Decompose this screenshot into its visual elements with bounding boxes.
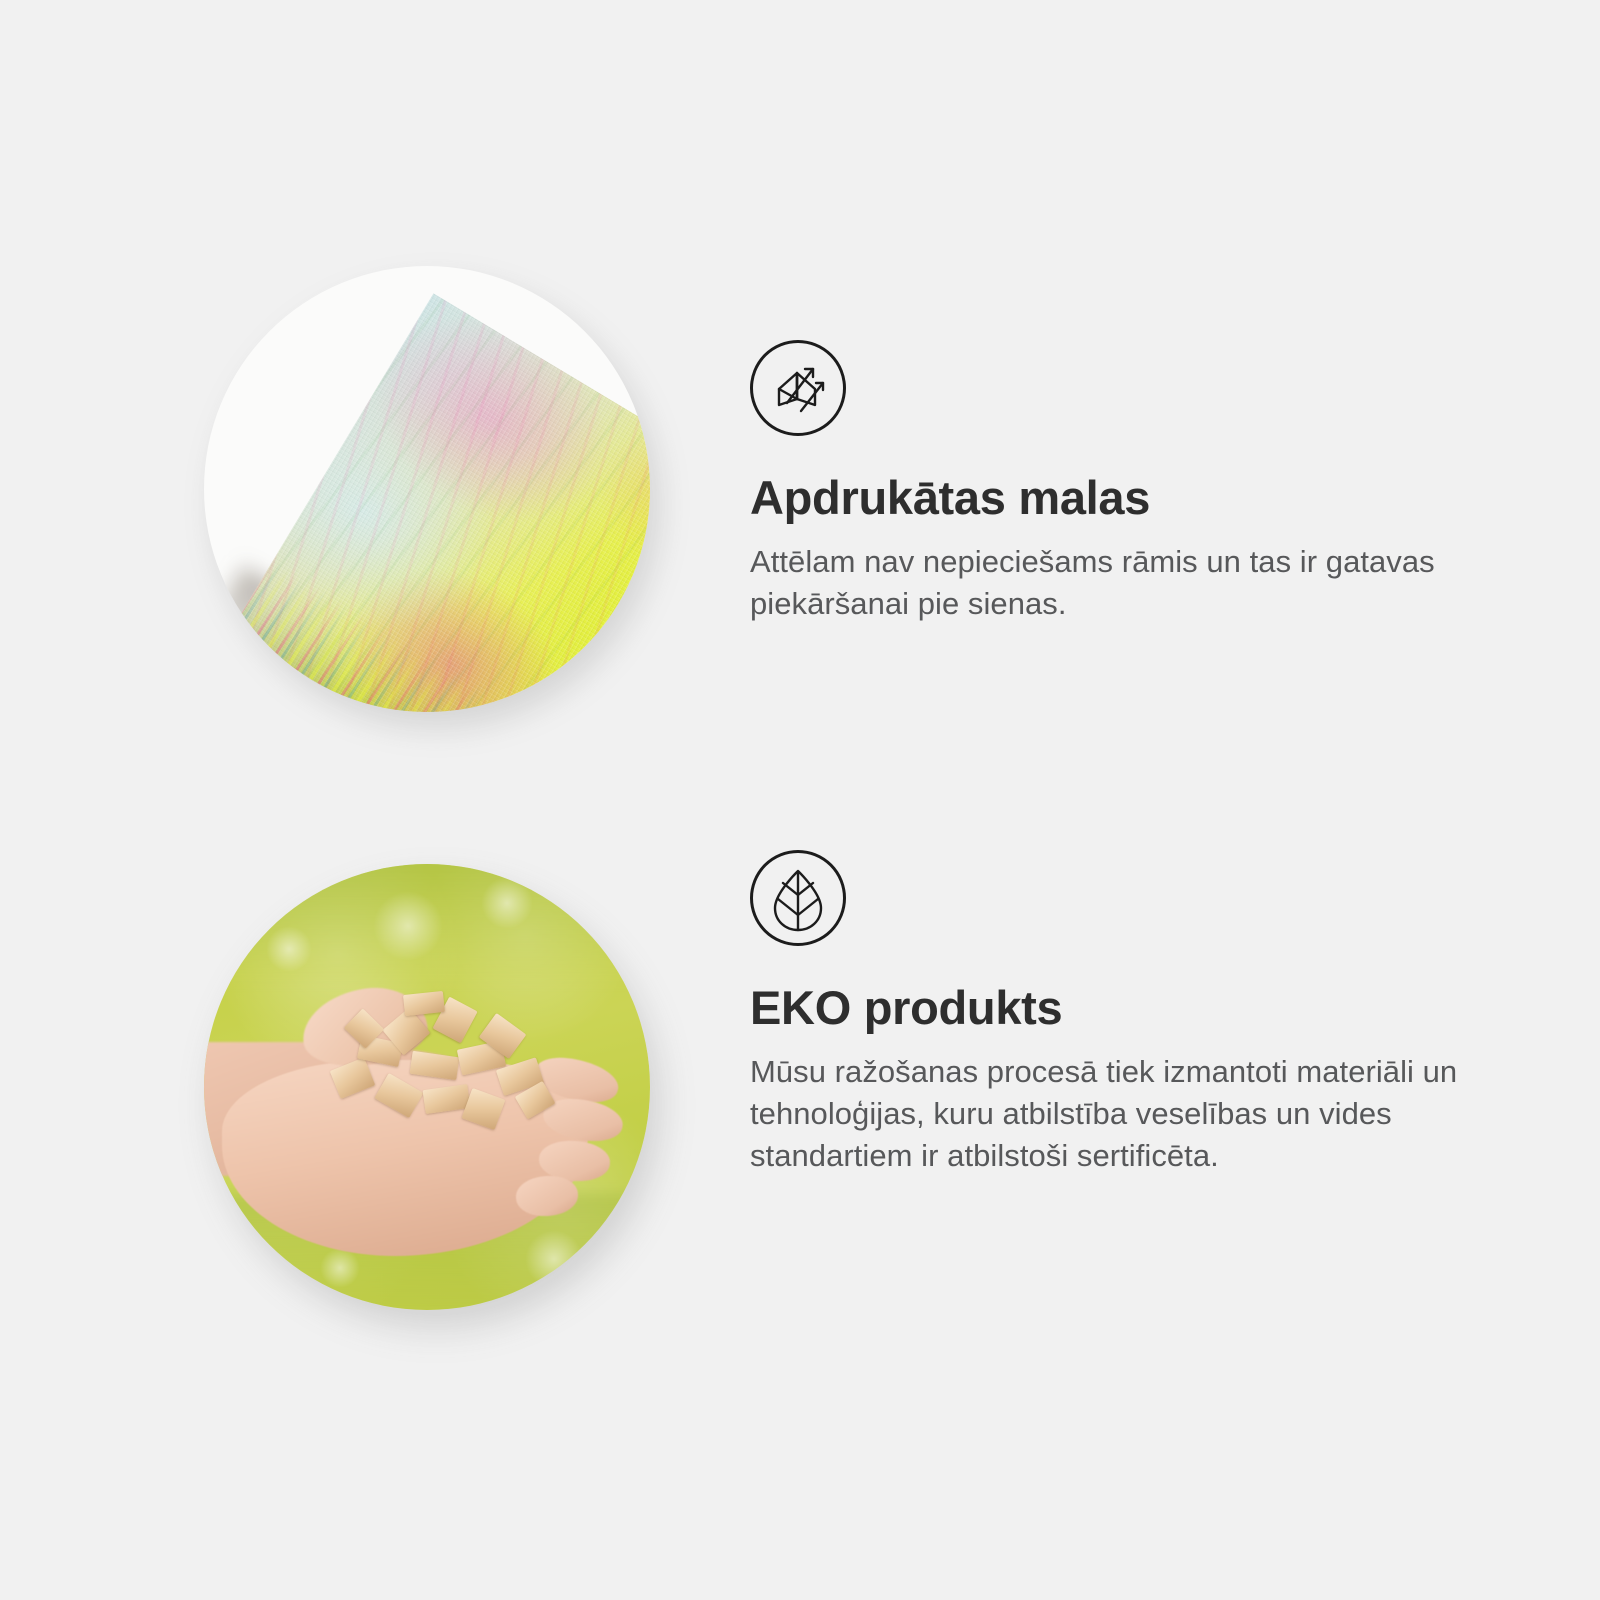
canvas-artwork	[204, 266, 650, 712]
feature-eco-title: EKO produkts	[750, 982, 1510, 1035]
feature-eco-description: Mūsu ražošanas procesā tiek izmantoti ma…	[750, 1051, 1480, 1177]
bokeh-highlight	[320, 1248, 360, 1288]
feature-printed-edges-content: Apdrukātas malas Attēlam nav nepieciešam…	[750, 340, 1510, 625]
canvas-printed-face	[212, 293, 650, 712]
wood-chips	[329, 993, 579, 1145]
hands-with-wood-chips-photo	[204, 864, 650, 1310]
feature-eco-content: EKO produkts Mūsu ražošanas procesā tiek…	[750, 850, 1510, 1177]
canvas-corner-photo	[204, 266, 650, 712]
eco-photo-content	[204, 864, 650, 1310]
feature-list-page: Apdrukātas malas Attēlam nav nepieciešam…	[0, 0, 1600, 1600]
feature-printed-edges: Apdrukātas malas Attēlam nav nepieciešam…	[0, 250, 1600, 750]
feature-eco: EKO produkts Mūsu ražošanas procesā tiek…	[0, 850, 1600, 1350]
bokeh-highlight	[373, 891, 443, 961]
printed-canvas-edges-icon	[750, 340, 846, 436]
bokeh-highlight	[481, 877, 533, 929]
leaf-icon	[750, 850, 846, 946]
feature-printed-edges-title: Apdrukātas malas	[750, 472, 1510, 525]
bokeh-highlight	[525, 1230, 583, 1288]
feature-printed-edges-description: Attēlam nav nepieciešams rāmis un tas ir…	[750, 541, 1480, 625]
